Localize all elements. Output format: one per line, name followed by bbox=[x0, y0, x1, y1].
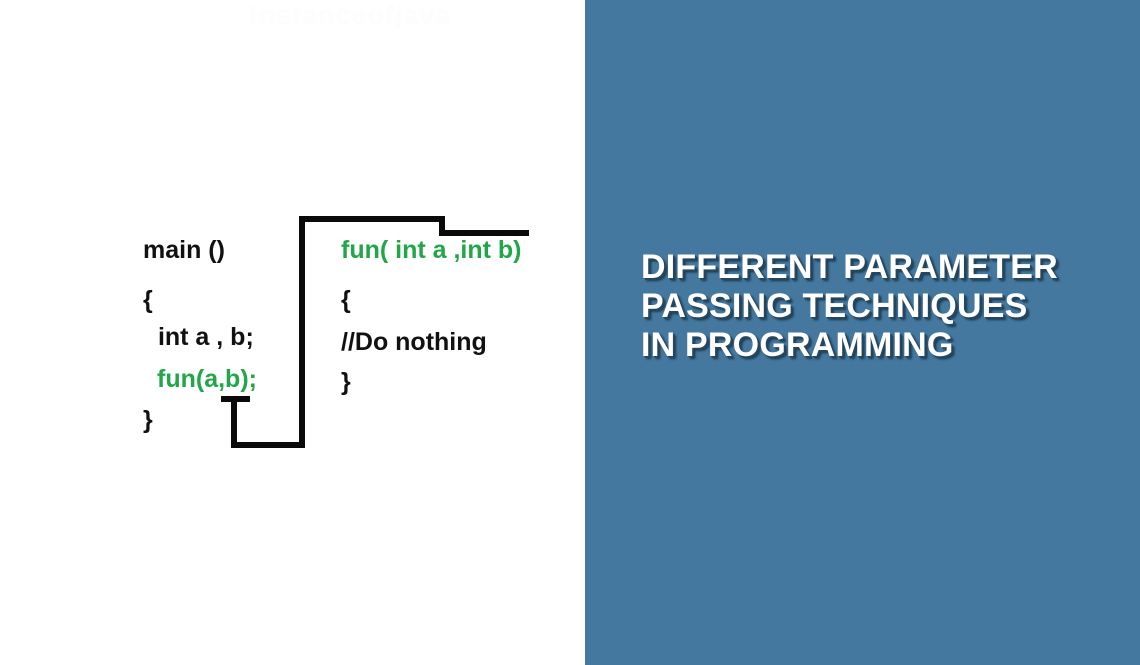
code-line-main-open-brace: { bbox=[143, 288, 153, 313]
code-diagram: main () { int a , b; fun(a,b); } fun( in… bbox=[0, 0, 585, 665]
slide-canvas: instanceofjava main () { int a , b; fun(… bbox=[0, 0, 1140, 665]
return-flow-arrow-horizontal-segment bbox=[231, 442, 303, 448]
call-flow-arrow-vertical-segment bbox=[299, 216, 305, 448]
code-line-function-call: fun(a,b); bbox=[157, 367, 257, 392]
code-line-main-close-brace: } bbox=[143, 408, 153, 433]
fun-signature-underline bbox=[439, 230, 529, 236]
page-title-line-1: DIFFERENT PARAMETER bbox=[641, 248, 1111, 287]
page-title-line-2: PASSING TECHNIQUES bbox=[641, 287, 1111, 326]
code-line-fun-signature: fun( int a ,int b) bbox=[341, 238, 522, 263]
code-line-main-signature: main () bbox=[143, 238, 225, 263]
code-line-fun-comment: //Do nothing bbox=[341, 330, 487, 355]
return-flow-arrow-vertical-segment bbox=[231, 396, 237, 448]
page-title-line-3: IN PROGRAMMING bbox=[641, 326, 1111, 365]
code-line-variable-declaration: int a , b; bbox=[151, 325, 254, 350]
code-line-fun-close-brace: } bbox=[341, 370, 351, 395]
call-flow-arrow-horizontal-segment bbox=[299, 216, 445, 222]
code-line-fun-open-brace: { bbox=[341, 288, 351, 313]
page-title: DIFFERENT PARAMETER PASSING TECHNIQUES I… bbox=[641, 248, 1111, 365]
